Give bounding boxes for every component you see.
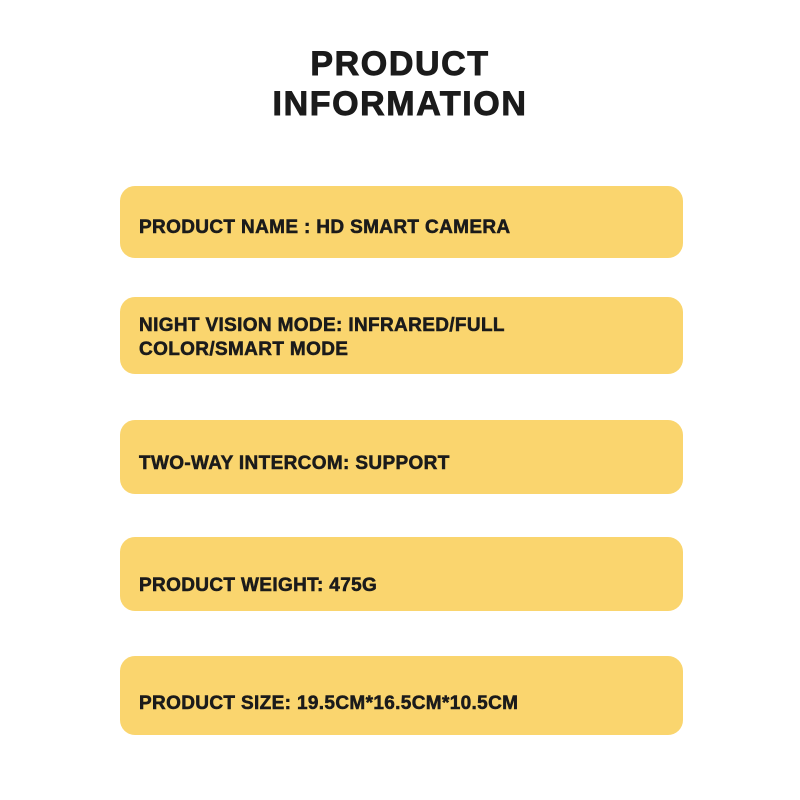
spec-card-text: TWO-WAY INTERCOM: SUPPORT [139, 452, 667, 476]
spec-card-text: PRODUCT NAME : HD SMART CAMERA [139, 216, 667, 240]
spec-card-product-name: PRODUCT NAME : HD SMART CAMERA [120, 186, 683, 258]
spec-card-text: PRODUCT SIZE: 19.5CM*16.5CM*10.5CM [139, 692, 667, 716]
spec-card-product-weight: PRODUCT WEIGHT: 475G [120, 537, 683, 611]
spec-card-two-way-intercom: TWO-WAY INTERCOM: SUPPORT [120, 420, 683, 494]
spec-card-text: NIGHT VISION MODE: INFRARED/FULL COLOR/S… [139, 314, 667, 362]
page-title-line-2: INFORMATION [0, 84, 800, 124]
spec-card-night-vision-mode: NIGHT VISION MODE: INFRARED/FULL COLOR/S… [120, 297, 683, 374]
spec-card-text: PRODUCT WEIGHT: 475G [139, 574, 667, 598]
page-title: PRODUCT INFORMATION [0, 44, 800, 124]
spec-card-product-size: PRODUCT SIZE: 19.5CM*16.5CM*10.5CM [120, 656, 683, 735]
page-title-line-1: PRODUCT [0, 44, 800, 84]
product-information-page: PRODUCT INFORMATION PRODUCT NAME : HD SM… [0, 0, 800, 800]
